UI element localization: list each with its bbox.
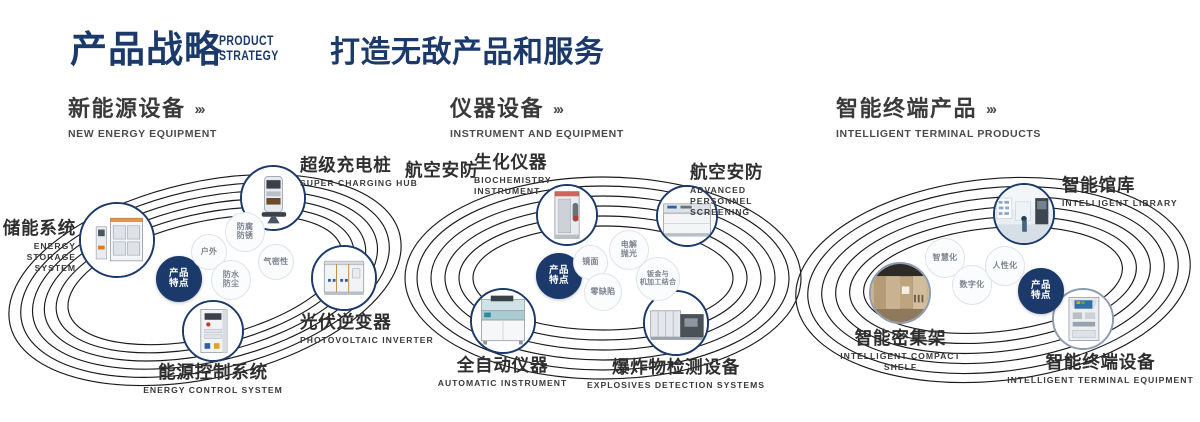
feature-bubble-anticorrosion: 防腐 防锈 [225, 212, 265, 252]
header: 产品战略 PRODUCT STRATEGY 打造无敌产品和服务 [0, 0, 1200, 92]
section-title-instrument: 仪器设备››› INSTRUMENT AND EQUIPMENT [450, 96, 624, 140]
feature-bubble-sheet-metal-machining: 钣金与 机加工结合 [636, 257, 680, 301]
feature-bubble-zero-defect: 零缺陷 [584, 273, 622, 311]
page-title-english-line2: STRATEGY [219, 48, 279, 63]
page-title-english-line1: PRODUCT [219, 33, 279, 48]
node-label-advanced-personnel-screening: 航空安防 ADVANCED PERSONNEL SCREENING [690, 162, 782, 218]
chevron-right-icon: ››› [986, 97, 995, 123]
node-intelligent-library[interactable] [993, 183, 1055, 245]
node-label-energy-control-system: 能源控制系统 ENERGY CONTROL SYSTEM [88, 362, 338, 396]
explosives-detector-icon [645, 292, 707, 354]
battery-cabinet-icon [81, 204, 153, 276]
node-label-intelligent-compact-shelf: 智能密集架 INTELLIGENT COMPACT SHELF [828, 328, 973, 373]
section-title-intelligent-terminal: 智能终端产品››› INTELLIGENT TERMINAL PRODUCTS [836, 96, 1041, 140]
automatic-analyzer-icon [472, 290, 534, 352]
feature-bubble-waterproof: 防水 防尘 [211, 260, 251, 300]
chevron-right-icon: ››› [195, 97, 204, 123]
node-label-biochemistry-instrument: 生化仪器 BIOCHEMISTRY INSTRUMENT [474, 152, 547, 197]
section-title-cn: 智能终端产品 [836, 96, 977, 121]
cluster-new-energy-equipment: 储能系统 ENERGY STORAGE SYSTEM 超级充电桩 SUPER C… [0, 150, 420, 410]
cluster-instrument-and-equipment: 航空安防 生化仪器 BIOCHEMISTRY INSTRUMENT [400, 150, 820, 410]
section-title-cn: 仪器设备 [450, 96, 544, 121]
section-title-cn: 新能源设备 [68, 96, 186, 121]
cluster-intelligent-terminal-products: 智能馆库 INTELLIGENT LIBRARY 智能密集架 INTELLIGE… [790, 150, 1200, 410]
control-cabinet-icon [184, 302, 242, 360]
node-label-intelligent-terminal-equipment: 智能终端设备 INTELLIGENT TERMINAL EQUIPMENT [1003, 352, 1198, 386]
inverter-cabinet-icon [313, 247, 375, 309]
section-title-en: NEW ENERGY EQUIPMENT [68, 128, 217, 140]
node-label-explosives-detection-systems: 爆炸物检测设备 EXPLOSIVES DETECTION SYSTEMS [566, 357, 786, 391]
page-title: 产品战略 [70, 28, 222, 72]
node-energy-storage-system[interactable] [79, 202, 155, 278]
feature-bubble-humanization: 人性化 [985, 246, 1025, 286]
node-intelligent-compact-shelf[interactable] [869, 262, 931, 324]
section-title-en: INSTRUMENT AND EQUIPMENT [450, 128, 624, 140]
core-bubble-product-features[interactable]: 产品 特点 [1018, 268, 1064, 314]
node-automatic-instrument[interactable] [470, 288, 536, 354]
chevron-right-icon: ››› [553, 97, 562, 123]
page-title-english: PRODUCT STRATEGY [219, 33, 279, 63]
section-title-en: INTELLIGENT TERMINAL PRODUCTS [836, 128, 1041, 140]
section-title-new-energy: 新能源设备››› NEW ENERGY EQUIPMENT [68, 96, 217, 140]
node-label-aviation-security: 航空安防 [405, 160, 478, 181]
node-label-intelligent-library: 智能馆库 INTELLIGENT LIBRARY [1062, 175, 1178, 209]
product-strategy-infographic: 产品战略 PRODUCT STRATEGY 打造无敌产品和服务 新能源设备›››… [0, 0, 1200, 422]
feature-bubble-airtight: 气密性 [258, 244, 294, 280]
node-label-energy-storage-system: 储能系统 ENERGY STORAGE SYSTEM [0, 218, 76, 274]
library-room-icon [995, 185, 1053, 243]
compact-shelf-icon [871, 264, 929, 322]
node-photovoltaic-inverter[interactable] [311, 245, 377, 311]
node-energy-control-system[interactable] [182, 300, 244, 362]
self-service-kiosk-icon [1054, 290, 1112, 348]
slogan: 打造无敌产品和服务 [330, 34, 605, 72]
